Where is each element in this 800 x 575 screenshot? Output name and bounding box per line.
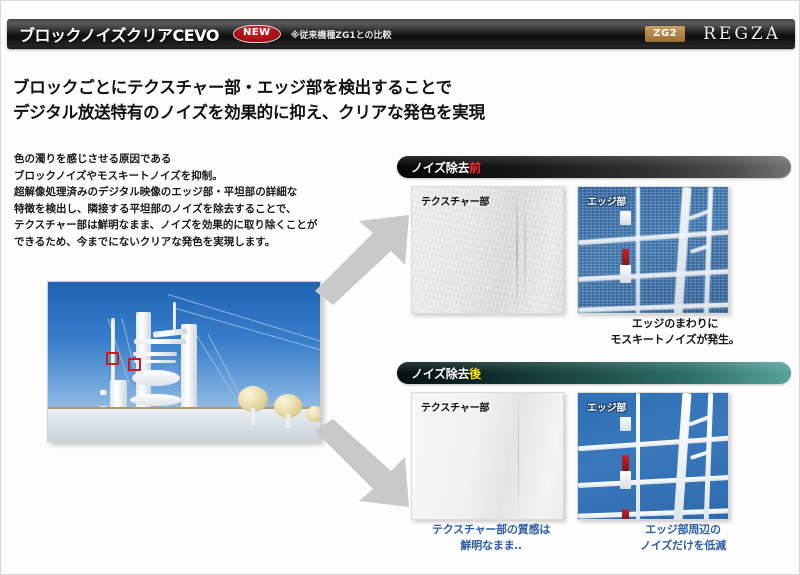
header-right-group: ZG2 REGZA	[645, 24, 781, 44]
caption-after-left-line-1: テクスチャー部の質感は	[403, 522, 579, 538]
section-after: ノイズ除去後 テクスチャー部 エッジ部	[397, 362, 791, 522]
section-after-label-main: ノイズ除去	[411, 367, 469, 381]
selection-box-1[interactable]	[106, 352, 119, 365]
thumb-edge-after-label: エッジ部	[587, 399, 626, 414]
description-line-2: ブロックノイズやモスキートノイズを抑制。	[14, 168, 374, 185]
caption-after-right-line-1: エッジ部周辺の	[593, 522, 773, 538]
thumb-texture-before[interactable]: テクスチャー部	[411, 186, 564, 314]
caption-before-line-1: エッジのまわりに	[565, 316, 785, 332]
caption-after-right-line-2: ノイズだけを低減	[593, 538, 773, 554]
section-before-label-accent: 前	[469, 161, 481, 175]
heading-line-1: ブロックごとにテクスチャー部・エッジ部を検出することで	[13, 75, 573, 100]
header-bar: ブロックノイズクリアCEVO NEW ※従来機種ZG1との比較 ZG2 REGZ…	[7, 19, 795, 49]
caption-before: エッジのまわりに モスキートノイズが発生。	[565, 316, 785, 348]
section-after-header: ノイズ除去後	[397, 362, 791, 384]
header-note: ※従来機種ZG1との比較	[291, 28, 392, 41]
thumb-edge-after[interactable]: エッジ部	[577, 392, 729, 520]
description-line-3: 超解像処理済みのデジタル映像のエッジ部・平坦部の詳細な	[14, 184, 374, 201]
section-after-label-accent: 後	[469, 367, 481, 381]
section-before-label-main: ノイズ除去	[411, 161, 469, 175]
page-title: ブロックノイズクリアCEVO	[19, 22, 219, 46]
model-chip-zg2: ZG2	[645, 26, 685, 42]
thumb-edge-before[interactable]: エッジ部	[577, 186, 729, 314]
caption-after-left: テクスチャー部の質感は 鮮明なまま‥	[403, 522, 579, 554]
thumb-texture-after-label: テクスチャー部	[421, 399, 489, 414]
regza-logo: REGZA	[703, 24, 781, 44]
caption-before-line-2: モスキートノイズが発生。	[565, 332, 785, 348]
description-line-1: 色の濁りを感じさせる原因である	[14, 151, 374, 168]
thumb-texture-after[interactable]: テクスチャー部	[411, 392, 564, 520]
section-before-panels: テクスチャー部 エッジ部	[397, 186, 791, 316]
thumb-edge-before-label: エッジ部	[587, 193, 626, 208]
heading-line-2: デジタル放送特有のノイズを効果的に抑え、クリアな発色を実現	[13, 100, 573, 125]
section-before: ノイズ除去前 テクスチャー部 エッジ部	[397, 156, 791, 316]
caption-after-left-line-2: 鮮明なまま‥	[403, 538, 579, 554]
section-after-label: ノイズ除去後	[411, 365, 481, 382]
slide-page: ブロックノイズクリアCEVO NEW ※従来機種ZG1との比較 ZG2 REGZ…	[0, 0, 800, 575]
source-photo	[47, 281, 321, 442]
section-after-panels: テクスチャー部 エッジ部	[397, 392, 791, 522]
thumb-texture-before-label: テクスチャー部	[421, 193, 489, 208]
section-before-label: ノイズ除去前	[411, 159, 481, 176]
section-before-header: ノイズ除去前	[397, 156, 791, 178]
caption-after-right: エッジ部周辺の ノイズだけを低減	[593, 522, 773, 554]
main-heading: ブロックごとにテクスチャー部・エッジ部を検出することで デジタル放送特有のノイズ…	[13, 75, 573, 125]
selection-box-2[interactable]	[128, 358, 141, 371]
new-badge: NEW	[233, 25, 281, 43]
